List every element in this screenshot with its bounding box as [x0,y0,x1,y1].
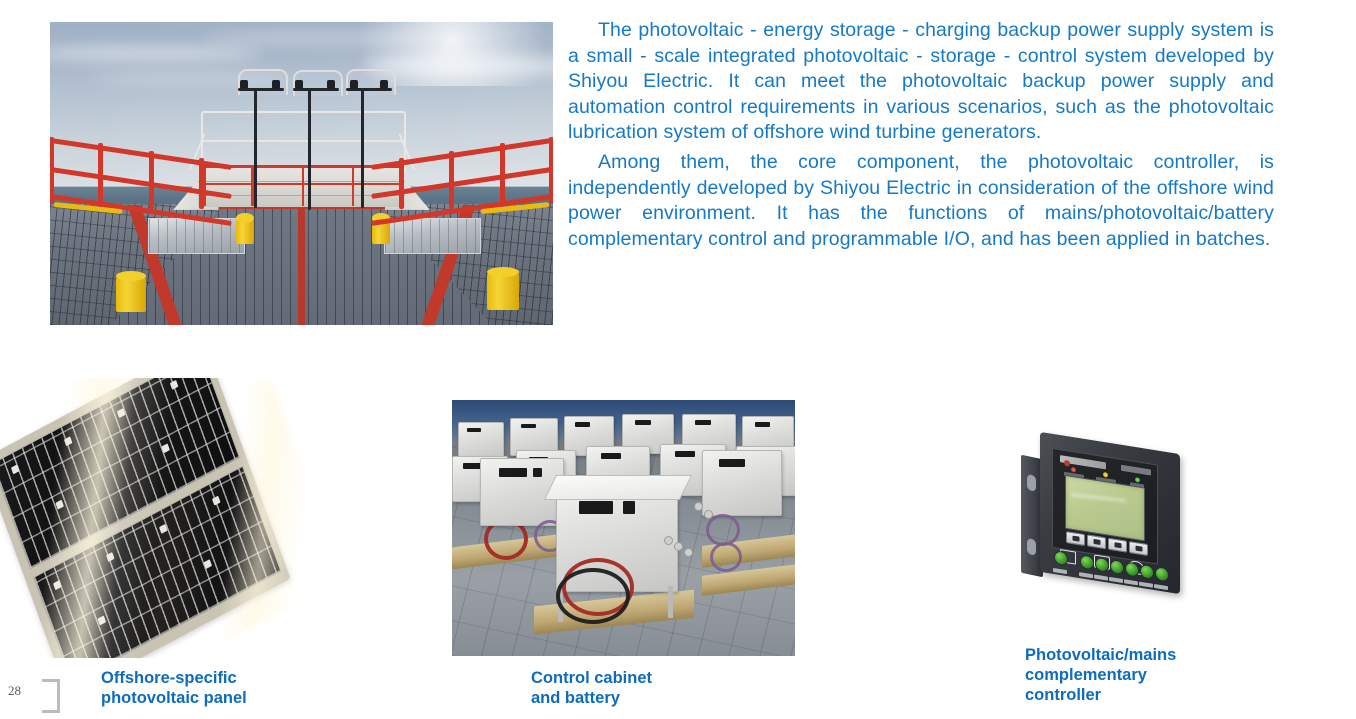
paragraph-1: The photovoltaic - energy storage - char… [568,18,1274,146]
mast-sensor [350,80,358,89]
cabinet-unit [458,422,504,458]
cabinet-leg [668,586,673,618]
caption-line: controller [1025,685,1176,705]
cloud [50,46,261,61]
mast-pole [308,88,311,210]
mast-sensor [240,80,248,89]
panel-clamp-dot [117,408,126,418]
slide-canvas: The photovoltaic - energy storage - char… [0,0,1356,719]
terminal-label-out-plus [1139,582,1153,588]
brand-logo-mark [1064,460,1070,467]
cable-connector [684,548,693,557]
page-number: 28 [8,683,21,699]
bollard [487,272,519,310]
terminal-label-dc-plus [1053,568,1067,574]
control-cabinet-photo [452,400,795,656]
panel-clamp-dot [212,496,221,506]
button-menu[interactable] [1066,531,1085,546]
controller-front-panel [1052,448,1158,565]
button-down[interactable] [1087,534,1106,549]
cabinet-label [719,459,745,467]
terminal-label-bat-plus [1109,577,1123,583]
led-load [1135,477,1140,483]
cabinet-label [467,428,481,432]
mast-sensor [295,80,303,89]
led-ac-charge [1103,472,1108,478]
mast-pole [361,88,364,208]
page-bracket-decoration [42,679,60,713]
bracket-slot [1027,538,1036,556]
terminal-out-minus [1155,566,1169,582]
caption-line: Offshore-specific [101,668,247,688]
terminal-label-bat-minus [1124,579,1138,585]
cabinet-label [635,420,651,425]
rail-post [500,143,505,207]
panel-clamp-dot [106,552,115,562]
rail-post [399,158,404,209]
cabinet-label [755,422,770,427]
deck-pv-cells [385,219,480,253]
panel-clamp-dot [64,436,73,446]
rail-post [199,158,204,209]
railing-left [50,131,221,222]
panel-clamp-dot [55,500,64,510]
caption-solar-panel: Offshore-specific photovoltaic panel [101,668,247,708]
offshore-platform-photo [50,22,553,325]
controller-housing [1040,432,1180,594]
body-text-block: The photovoltaic - energy storage - char… [568,18,1274,252]
rail-bar [50,135,231,170]
caption-line: and battery [531,688,652,708]
mast-sensor [380,80,388,89]
cabinet-label [521,424,536,428]
button-glyph [1072,535,1079,541]
cable-connector [664,536,673,545]
terminal-label-out-minus [1154,584,1168,590]
pv-controller-photo [1015,425,1215,610]
cabinet-label [579,501,613,514]
panel-clamp-dot [97,615,106,625]
purple-cable-coil [710,542,742,572]
cabinet-unit [702,450,782,516]
black-cable-coil [556,568,630,624]
rail-bar [50,164,231,199]
lcd-display [1065,475,1145,542]
bracket-slot [1027,474,1036,492]
panel-clamp-dot [159,524,168,534]
panel-clamp-dot [170,380,179,390]
cabinet-knob [533,468,542,477]
cabinet-label [675,451,695,457]
rail-post [50,137,54,204]
bollard [236,218,254,244]
caption-line: photovoltaic panel [101,688,247,708]
led-pv-charge [1071,467,1076,473]
paragraph-2: Among them, the core component, the phot… [568,150,1274,252]
railing-right [382,131,553,222]
cabinet-label [695,420,711,425]
brand-logo-plate [1060,455,1106,469]
cabinet-top-face [544,475,693,500]
cable-connector [694,502,703,511]
cloud [201,32,442,44]
button-glyph [1114,542,1121,548]
button-glyph [1093,539,1100,545]
panel-clamp-dot [53,580,62,590]
button-glyph [1135,545,1142,551]
mast-sensor [272,80,280,89]
caption-pv-controller: Photovoltaic/mains complementary control… [1025,645,1176,705]
panel-clamp-dot [203,559,212,569]
rear-white-frame [201,111,406,171]
solar-panel-frame [0,378,290,658]
solar-panel-photo [0,378,330,658]
button-enter[interactable] [1129,541,1148,556]
rail-post [149,151,154,209]
terminal-label-pv-minus [1094,574,1108,580]
deck-red-center-seam [298,205,305,325]
rail-post [549,137,553,204]
deck-pv-panel-right [384,218,481,254]
model-label-plate [1121,465,1151,476]
rear-rail-post [352,165,355,206]
cabinet-label [463,463,481,469]
cabinet-label [499,468,527,477]
caption-line: complementary [1025,665,1176,685]
caption-line: Photovoltaic/mains [1025,645,1176,665]
cabinet-label [575,422,590,427]
rail-post [98,143,103,207]
rear-rail-post [302,165,305,206]
caption-control-cabinet: Control cabinet and battery [531,668,652,708]
mast-sensor [327,80,335,89]
button-up[interactable] [1108,538,1127,553]
terminal-out-plus [1140,564,1154,580]
panel-clamp-dot [11,464,20,474]
panel-clamp-dot [161,443,170,453]
bollard [116,276,146,312]
terminal-label-pv-plus [1079,572,1093,578]
mast-pole [254,88,257,208]
caption-line: Control cabinet [531,668,652,688]
cabinet-label [601,453,621,459]
cable-connector [674,542,683,551]
cable-connector [704,510,713,519]
cabinet-knob [623,501,635,514]
rail-post [449,151,454,209]
